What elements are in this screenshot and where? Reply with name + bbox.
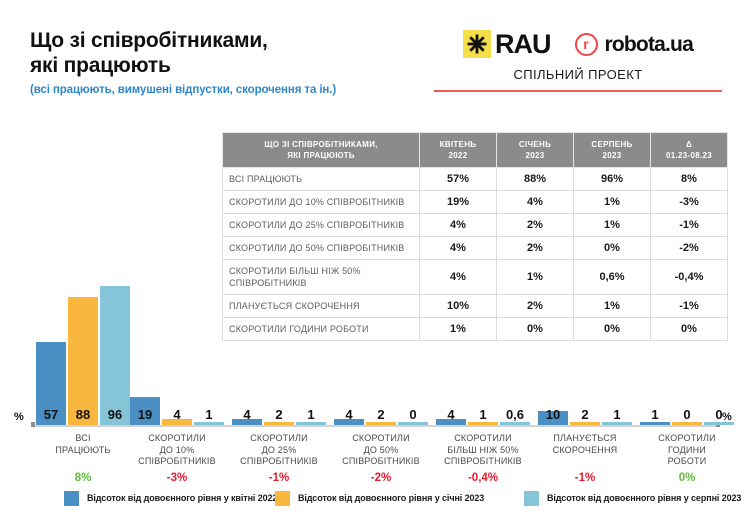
table-header-apr-2022: КВІТЕНЬ 2022	[420, 133, 497, 168]
bar-2-1	[264, 422, 294, 425]
bar-value-4-1: 1	[468, 408, 498, 422]
table-cell-jan2023: 2%	[497, 237, 574, 260]
title-block: Що зі співробітниками, які працюють (всі…	[30, 28, 430, 96]
table-header-aug-2023: СЕРПЕНЬ 2023	[574, 133, 651, 168]
page-title-line-1: Що зі співробітниками,	[30, 28, 430, 53]
legend-swatch-2	[524, 491, 539, 506]
bar-value-5-0: 10	[538, 408, 568, 422]
delta-label-2: -1%	[234, 472, 324, 484]
brand-block: RAU r robota.ua СПІЛЬНИЙ ПРОЕКТ	[428, 28, 728, 92]
category-label-6-line-2: РОБОТИ	[632, 456, 742, 468]
table-header-row: ЩО ЗІ СПІВРОБІТНИКАМИ, ЯКІ ПРАЦЮЮТЬ КВІТ…	[223, 133, 728, 168]
bar-4-2	[500, 422, 530, 425]
bar-value-1-2: 1	[194, 408, 224, 422]
category-label-4-line-2: СПІВРОБІТНИКІВ	[428, 456, 538, 468]
category-label-2: СКОРОТИЛИДО 25%СПІВРОБІТНИКІВ	[224, 433, 334, 468]
rau-logo: RAU	[463, 30, 551, 58]
bar-1-2	[194, 422, 224, 425]
bar-value-2-0: 4	[232, 408, 262, 422]
category-label-3-line-2: СПІВРОБІТНИКІВ	[326, 456, 436, 468]
x-axis-line	[32, 425, 718, 427]
legend-swatch-1	[275, 491, 290, 506]
robota-wordmark: robota.ua	[605, 34, 693, 55]
bar-0-1	[68, 297, 98, 425]
bar-value-3-1: 2	[366, 408, 396, 422]
table-cell-apr2022: 19%	[420, 191, 497, 214]
bar-value-3-0: 4	[334, 408, 364, 422]
table-row: СКОРОТИЛИ ДО 50% СПІВРОБІТНИКІВ4%2%0%-2%	[223, 237, 728, 260]
bar-value-2-2: 1	[296, 408, 326, 422]
category-label-3-line-0: СКОРОТИЛИ	[326, 433, 436, 445]
table-cell-jan2023: 4%	[497, 191, 574, 214]
table-cell-label: СКОРОТИЛИ ДО 25% СПІВРОБІТНИКІВ	[223, 214, 420, 237]
table-row: ВСІ ПРАЦЮЮТЬ57%88%96%8%	[223, 168, 728, 191]
bar-3-1	[366, 422, 396, 425]
category-label-6-line-1: ГОДИНИ	[632, 445, 742, 457]
category-label-4-line-1: БІЛЬШ НІЖ 50%	[428, 445, 538, 457]
page-title-line-2: які працюють	[30, 53, 430, 78]
brand-logos-row: RAU r robota.ua	[428, 28, 728, 60]
table-cell-aug2023: 1%	[574, 214, 651, 237]
category-label-4-line-0: СКОРОТИЛИ	[428, 433, 538, 445]
table-cell-delta: 8%	[651, 168, 728, 191]
category-label-3-line-1: ДО 50%	[326, 445, 436, 457]
table-cell-delta: -3%	[651, 191, 728, 214]
delta-label-1: -3%	[132, 472, 222, 484]
category-label-5-line-0: ПЛАНУЄТЬСЯ	[530, 433, 640, 445]
table-cell-aug2023: 96%	[574, 168, 651, 191]
bar-3-2	[398, 422, 428, 425]
x-axis-cap-left	[31, 422, 35, 427]
bar-value-6-0: 1	[640, 408, 670, 422]
table-header-jan-2023-line1: СІЧЕНЬ	[519, 140, 551, 149]
legend-label-1: Відсоток від довоєнного рівня у січні 20…	[298, 493, 484, 503]
header: Що зі співробітниками, які працюють (всі…	[0, 0, 750, 112]
category-label-2-line-2: СПІВРОБІТНИКІВ	[224, 456, 334, 468]
y-axis-unit-left: %	[14, 411, 24, 423]
table-header-aug-2023-line2: 2023	[603, 151, 622, 160]
category-label-5-line-1: СКОРОЧЕННЯ	[530, 445, 640, 457]
table-row: СКОРОТИЛИ ДО 10% СПІВРОБІТНИКІВ19%4%1%-3…	[223, 191, 728, 214]
bar-2-2	[296, 422, 326, 425]
table-cell-apr2022: 4%	[420, 214, 497, 237]
delta-label-4: -0,4%	[438, 472, 528, 484]
page-subtitle: (всі працюють, вимушені відпустки, скоро…	[30, 84, 430, 96]
bar-value-0-2: 96	[100, 408, 130, 422]
bar-value-2-1: 2	[264, 408, 294, 422]
bar-value-0-1: 88	[68, 408, 98, 422]
table-header-delta-line1: Δ	[686, 140, 692, 149]
table-header-delta: Δ 01.23-08.23	[651, 133, 728, 168]
bar-value-1-1: 4	[162, 408, 192, 422]
bar-0-2	[100, 286, 130, 425]
bar-value-6-1: 0	[672, 408, 702, 422]
table-cell-aug2023: 1%	[574, 191, 651, 214]
robota-logo: r robota.ua	[575, 33, 693, 56]
category-label-1-line-2: СПІВРОБІТНИКІВ	[122, 456, 232, 468]
table-header-apr-2022-line1: КВІТЕНЬ	[440, 140, 477, 149]
category-label-4: СКОРОТИЛИБІЛЬШ НІЖ 50%СПІВРОБІТНИКІВ	[428, 433, 538, 468]
delta-label-6: 0%	[642, 472, 732, 484]
rau-wordmark: RAU	[495, 31, 551, 58]
rau-asterisk-icon	[463, 30, 491, 58]
table-header: ЩО ЗІ СПІВРОБІТНИКАМИ, ЯКІ ПРАЦЮЮТЬ КВІТ…	[223, 133, 728, 168]
bar-value-5-1: 2	[570, 408, 600, 422]
bar-6-0	[640, 422, 670, 425]
table-header-category-line2: ЯКІ ПРАЦЮЮТЬ	[287, 151, 355, 160]
table-header-delta-line2: 01.23-08.23	[666, 151, 712, 160]
table-cell-apr2022: 57%	[420, 168, 497, 191]
bar-6-1	[672, 422, 702, 425]
joint-project-label: СПІЛЬНИЙ ПРОЕКТ	[428, 67, 728, 82]
bar-5-1	[570, 422, 600, 425]
table-row: СКОРОТИЛИ ДО 25% СПІВРОБІТНИКІВ4%2%1%-1%	[223, 214, 728, 237]
legend-swatch-0	[64, 491, 79, 506]
table-cell-label: СКОРОТИЛИ ДО 50% СПІВРОБІТНИКІВ	[223, 237, 420, 260]
table-header-jan-2023-line2: 2023	[526, 151, 545, 160]
table-cell-label: СКОРОТИЛИ ДО 10% СПІВРОБІТНИКІВ	[223, 191, 420, 214]
table-cell-delta: -2%	[651, 237, 728, 260]
table-header-category: ЩО ЗІ СПІВРОБІТНИКАМИ, ЯКІ ПРАЦЮЮТЬ	[223, 133, 420, 168]
category-label-1-line-1: ДО 10%	[122, 445, 232, 457]
category-label-2-line-1: ДО 25%	[224, 445, 334, 457]
legend-item-0[interactable]: Відсоток від довоєнного рівня у квітні 2…	[64, 491, 277, 506]
table-cell-delta: -1%	[651, 214, 728, 237]
category-label-2-line-0: СКОРОТИЛИ	[224, 433, 334, 445]
bar-value-4-2: 0,6	[500, 408, 530, 422]
table-header-category-line1: ЩО ЗІ СПІВРОБІТНИКАМИ,	[264, 140, 377, 149]
table-cell-aug2023: 0%	[574, 237, 651, 260]
delta-label-5: -1%	[540, 472, 630, 484]
robota-circle-icon: r	[575, 33, 598, 56]
bar-4-1	[468, 422, 498, 425]
table-header-aug-2023-line1: СЕРПЕНЬ	[591, 140, 632, 149]
legend-item-1[interactable]: Відсоток від довоєнного рівня у січні 20…	[275, 491, 484, 506]
table-header-jan-2023: СІЧЕНЬ 2023	[497, 133, 574, 168]
delta-label-3: -2%	[336, 472, 426, 484]
bar-value-3-2: 0	[398, 408, 428, 422]
bar-value-5-2: 1	[602, 408, 632, 422]
category-label-5: ПЛАНУЄТЬСЯСКОРОЧЕННЯ	[530, 433, 640, 456]
table-cell-apr2022: 4%	[420, 237, 497, 260]
bar-6-2	[704, 422, 734, 425]
legend-item-2[interactable]: Відсоток від довоєнного рівня у серпні 2…	[524, 491, 741, 506]
bar-value-0-0: 57	[36, 408, 66, 422]
category-label-6-line-0: СКОРОТИЛИ	[632, 433, 742, 445]
table-cell-label: ВСІ ПРАЦЮЮТЬ	[223, 168, 420, 191]
category-label-1: СКОРОТИЛИДО 10%СПІВРОБІТНИКІВ	[122, 433, 232, 468]
table-cell-jan2023: 88%	[497, 168, 574, 191]
delta-label-0: 8%	[38, 472, 128, 484]
brand-divider	[434, 90, 722, 92]
bar-value-4-0: 4	[436, 408, 466, 422]
bar-5-2	[602, 422, 632, 425]
legend-label-0: Відсоток від довоєнного рівня у квітні 2…	[87, 493, 277, 503]
table-header-apr-2022-line2: 2022	[449, 151, 468, 160]
table-cell-jan2023: 2%	[497, 214, 574, 237]
bar-value-6-2: 0	[704, 408, 734, 422]
bar-value-1-0: 19	[130, 408, 160, 422]
category-label-3: СКОРОТИЛИДО 50%СПІВРОБІТНИКІВ	[326, 433, 436, 468]
category-label-1-line-0: СКОРОТИЛИ	[122, 433, 232, 445]
legend-label-2: Відсоток від довоєнного рівня у серпні 2…	[547, 493, 741, 503]
category-label-6: СКОРОТИЛИГОДИНИРОБОТИ	[632, 433, 742, 468]
